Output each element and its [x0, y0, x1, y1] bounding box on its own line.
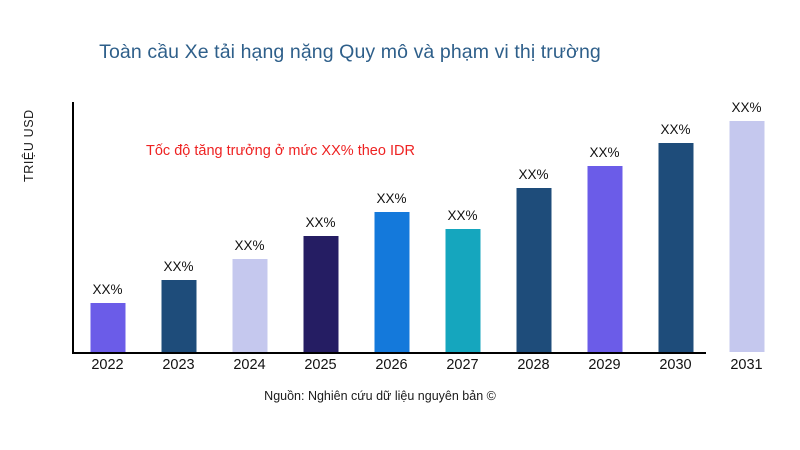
plot-area: XX%XX%XX%XX%XX%XX%XX%XX%XX%XX% — [72, 102, 784, 352]
bar[interactable] — [516, 188, 551, 352]
x-axis-line — [72, 352, 706, 354]
chart-title: Toàn cầu Xe tải hạng nặng Quy mô và phạm… — [0, 41, 700, 64]
bar[interactable] — [658, 143, 693, 352]
bar-slot: XX% — [498, 102, 569, 352]
x-tick-label-2028: 2028 — [498, 357, 569, 373]
bar-value-label: XX% — [589, 146, 619, 160]
x-tick-label-2030: 2030 — [640, 357, 711, 373]
bar[interactable] — [445, 229, 480, 352]
x-tick-label-2025: 2025 — [285, 357, 356, 373]
x-tick-label-2029: 2029 — [569, 357, 640, 373]
x-tick-label-2022: 2022 — [72, 357, 143, 373]
bar-slot: XX% — [711, 102, 782, 352]
bar-value-label: XX% — [376, 192, 406, 206]
bar-value-label: XX% — [447, 209, 477, 223]
bar-value-label: XX% — [660, 123, 690, 137]
bar-slot: XX% — [569, 102, 640, 352]
x-tick-label-2031: 2031 — [711, 357, 782, 373]
x-axis-tick-labels: 2022202320242025202620272028202920302031 — [72, 357, 784, 381]
x-tick-label-2027: 2027 — [427, 357, 498, 373]
bar-value-label: XX% — [92, 283, 122, 297]
bar[interactable] — [161, 280, 196, 352]
bar-slot: XX% — [72, 102, 143, 352]
bar-slot: XX% — [427, 102, 498, 352]
bar-slot: XX% — [285, 102, 356, 352]
bar-value-label: XX% — [163, 260, 193, 274]
bar-value-label: XX% — [305, 216, 335, 230]
bar[interactable] — [303, 236, 338, 352]
x-tick-label-2024: 2024 — [214, 357, 285, 373]
bar[interactable] — [729, 121, 764, 352]
chart-container: Toàn cầu Xe tải hạng nặng Quy mô và phạm… — [0, 0, 800, 450]
bar-value-label: XX% — [518, 168, 548, 182]
bar[interactable] — [374, 212, 409, 352]
bar-slot: XX% — [640, 102, 711, 352]
bar[interactable] — [90, 303, 125, 352]
bar[interactable] — [232, 259, 267, 352]
y-axis-label: TRIỆU USD — [22, 62, 36, 182]
bar-value-label: XX% — [234, 239, 264, 253]
bar[interactable] — [587, 166, 622, 352]
source-note: Nguồn: Nghiên cứu dữ liệu nguyên bản © — [0, 389, 760, 403]
bar-value-label: XX% — [731, 101, 761, 115]
bar-slot: XX% — [214, 102, 285, 352]
x-tick-label-2026: 2026 — [356, 357, 427, 373]
bar-slot: XX% — [143, 102, 214, 352]
bar-slot: XX% — [356, 102, 427, 352]
x-tick-label-2023: 2023 — [143, 357, 214, 373]
